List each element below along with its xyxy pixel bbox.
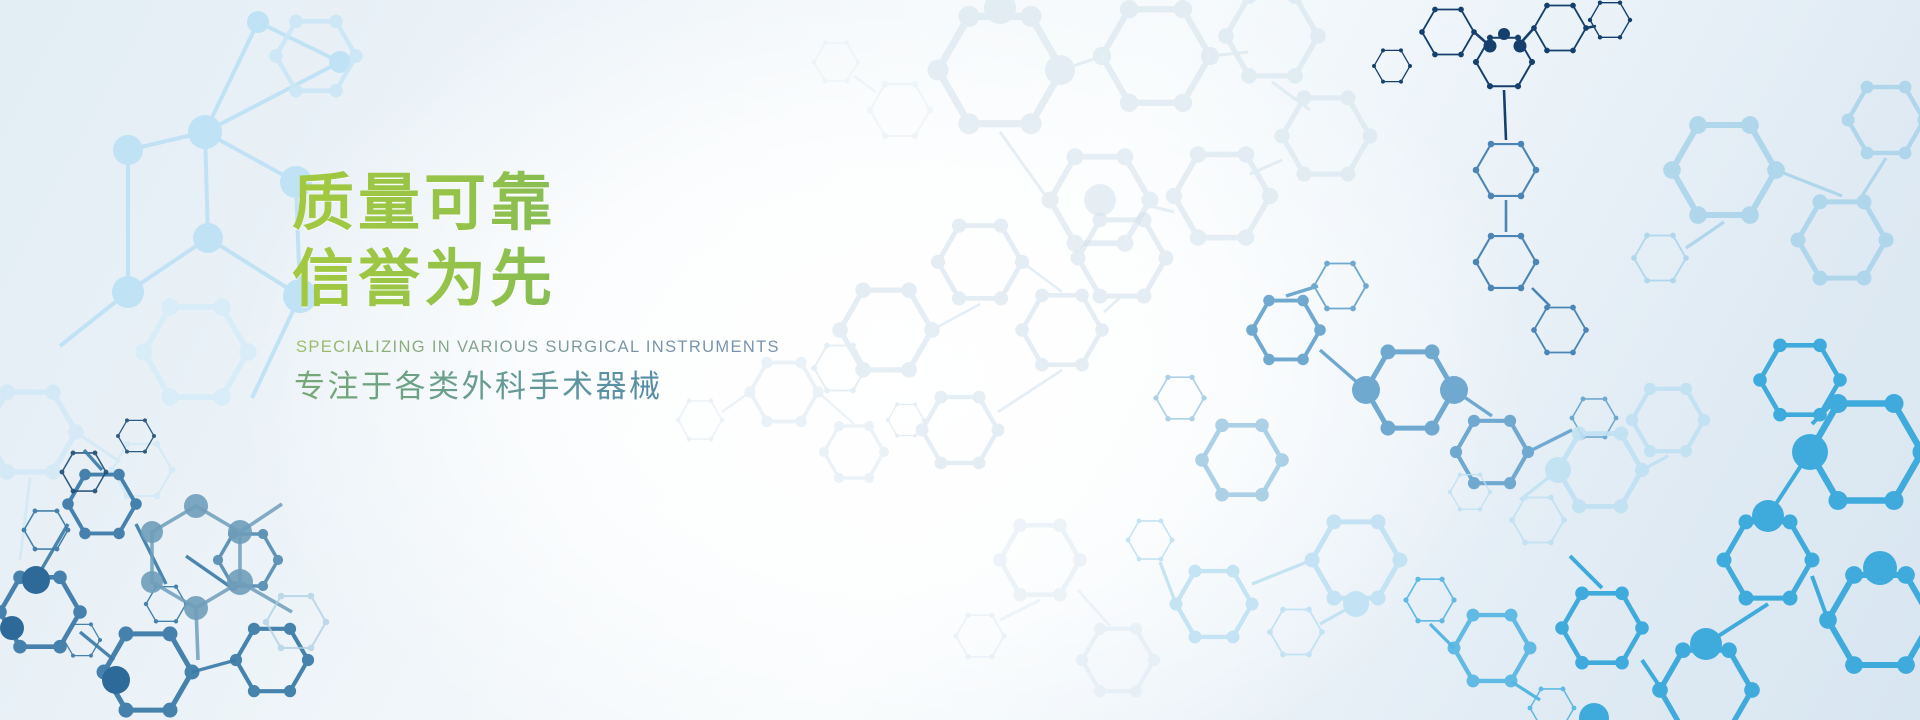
- molecule-cluster-bottom-right: [1403, 339, 1920, 720]
- molecule-cluster-left-mid: [141, 494, 329, 660]
- banner-copy: 质量可靠 信誉为先 SPECIALIZING IN VARIOUS SURGIC…: [292, 168, 992, 408]
- molecule-cluster-top-right-navy: [1372, 0, 1632, 355]
- molecule-cluster-upper-middle-ghost: [927, 0, 1377, 252]
- chinese-subtitle: 专注于各类外科手术器械: [294, 366, 992, 408]
- molecule-cluster-left-edge: [0, 384, 175, 560]
- molecule-cluster-right-mid: [1153, 261, 1618, 502]
- molecule-cluster-right-edge: [1631, 81, 1920, 286]
- molecule-cluster-bottom-left: [0, 418, 314, 717]
- molecule-cluster-bottom-center-ghost: [953, 519, 1160, 698]
- english-tagline: SPECIALIZING IN VARIOUS SURGICAL INSTRUM…: [296, 338, 992, 357]
- hero-banner: 质量可靠 信誉为先 SPECIALIZING IN VARIOUS SURGIC…: [0, 0, 1920, 720]
- molecule-cluster-top-center-ghost: [812, 41, 934, 140]
- molecule-cluster-mid-bottom: [1126, 383, 1711, 658]
- headline-line-2: 信誉为先: [292, 244, 992, 314]
- headline-line-1: 质量可靠: [292, 168, 992, 238]
